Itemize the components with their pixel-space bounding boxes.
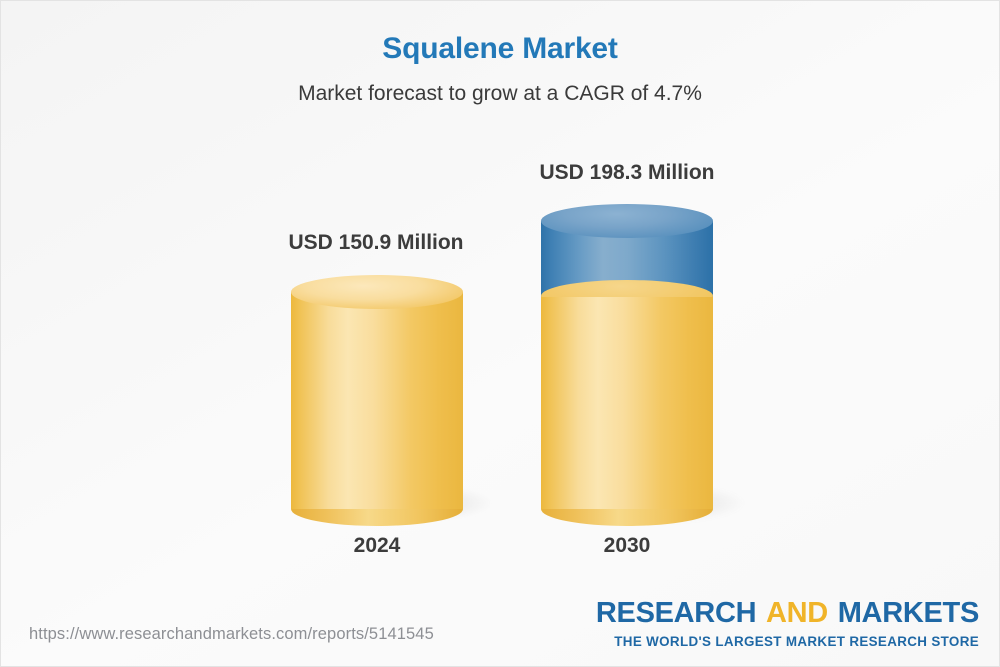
- brand-logo[interactable]: RESEARCH AND MARKETS THE WORLD'S LARGEST…: [596, 599, 979, 648]
- bar-value-label-2030: USD 198.3 Million: [457, 161, 797, 185]
- chart-canvas: Squalene Market Market forecast to grow …: [0, 0, 1000, 667]
- report-url[interactable]: https://www.researchandmarkets.com/repor…: [29, 625, 434, 644]
- cylinder-top-cap-2024: [291, 275, 463, 309]
- bar-value-label-2024: USD 150.9 Million: [206, 231, 546, 255]
- logo-wordmark: RESEARCH AND MARKETS: [596, 599, 979, 628]
- cylinder-base-wall-2030: [541, 297, 713, 509]
- cylinder-top-cap-2030: [541, 204, 713, 238]
- logo-word-research: RESEARCH: [596, 597, 756, 629]
- cylinder-segment-base-2024: [291, 292, 463, 509]
- logo-word-and: AND: [764, 597, 830, 629]
- cylinder-base-wall-fill-2030: [541, 297, 713, 509]
- logo-tagline: THE WORLD'S LARGEST MARKET RESEARCH STOR…: [596, 635, 979, 648]
- bar-category-label-2030: 2030: [457, 534, 797, 558]
- logo-word-markets: MARKETS: [838, 597, 979, 629]
- plot-area: USD 150.9 Million 2024 USD 198.3 Million: [1, 1, 1000, 601]
- cylinder-body-2024: [291, 292, 463, 509]
